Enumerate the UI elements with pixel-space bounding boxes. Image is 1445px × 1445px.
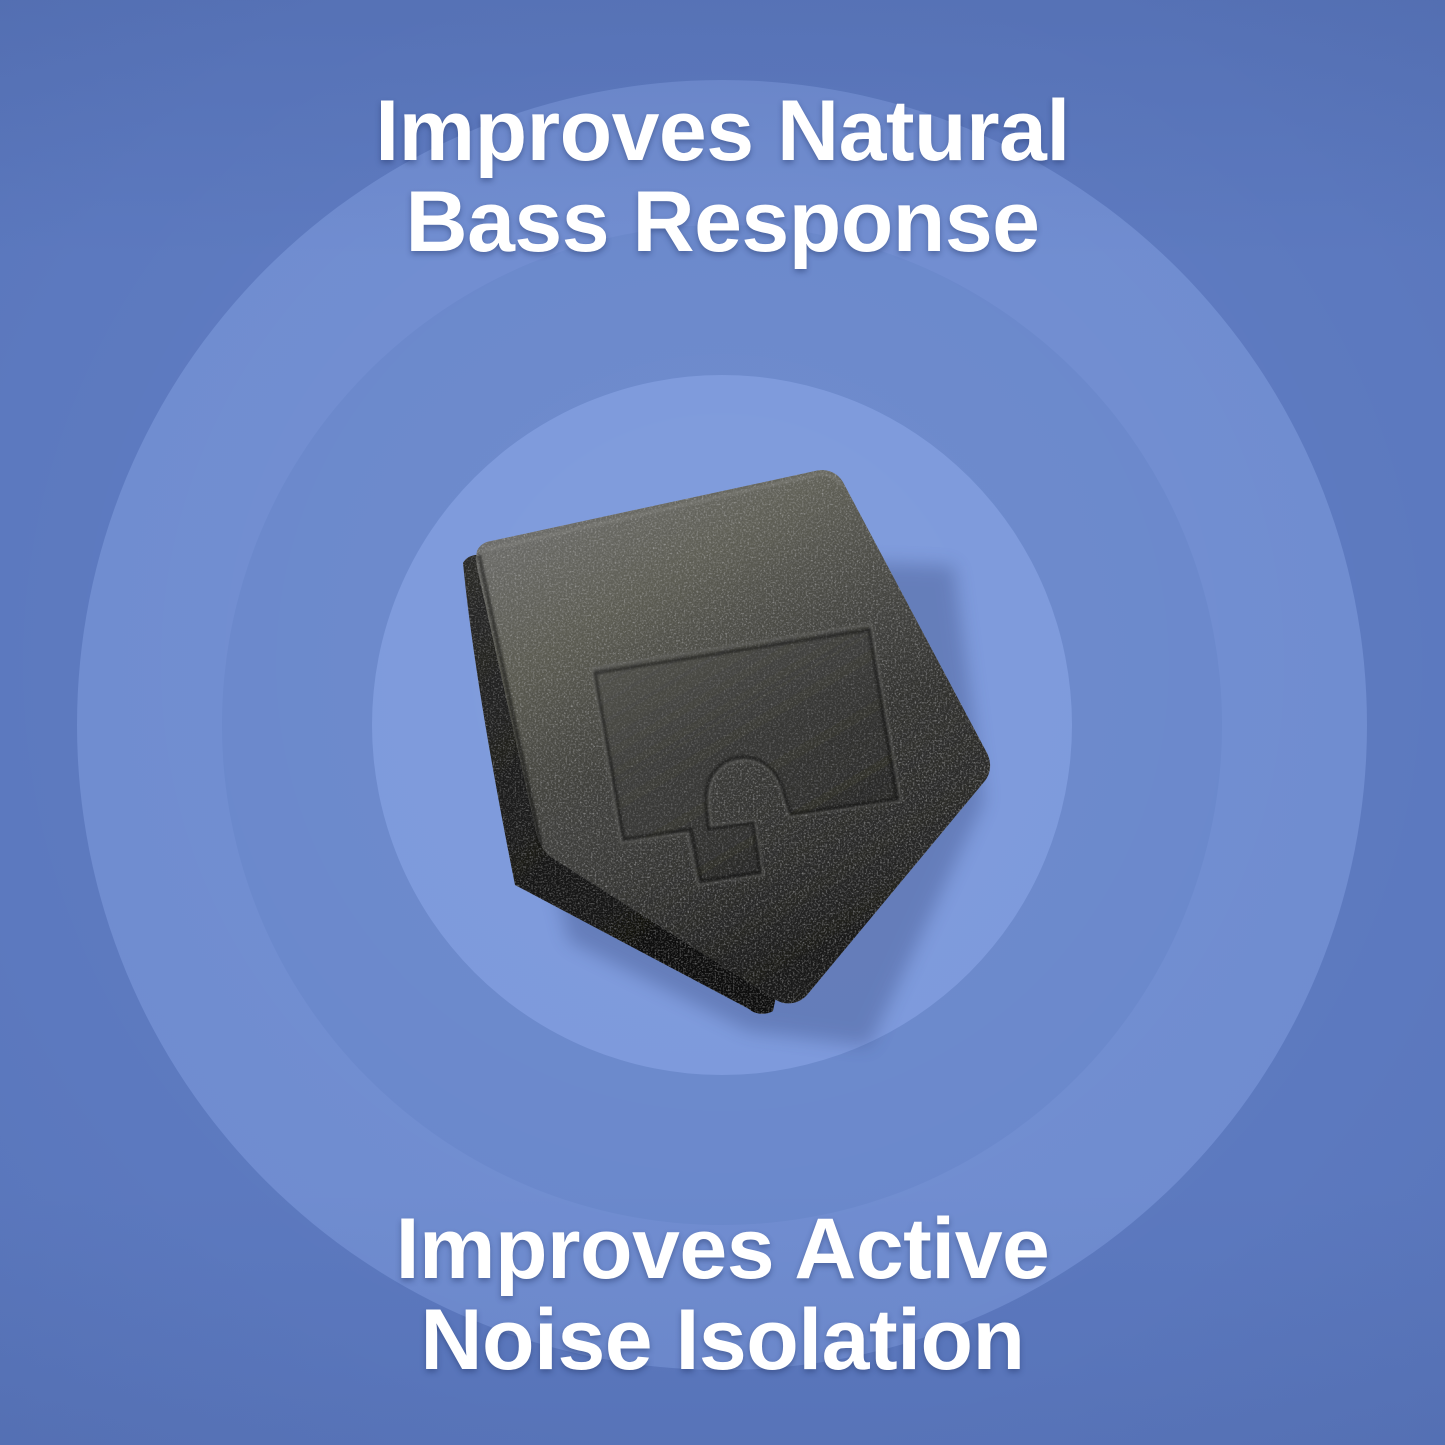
headline-top-line-1: Improves Natural: [0, 86, 1445, 177]
foam-ear-pad-insert-illustration: [455, 455, 1015, 1035]
headline-bottom: Improves Active Noise Isolation: [0, 1204, 1445, 1386]
headline-top-line-2: Bass Response: [0, 177, 1445, 268]
headline-bottom-line-1: Improves Active: [0, 1204, 1445, 1295]
product-image: [455, 455, 1015, 1035]
feature-graphic-canvas: Improves Natural Bass Response: [0, 0, 1445, 1445]
headline-bottom-line-2: Noise Isolation: [0, 1295, 1445, 1386]
headline-top: Improves Natural Bass Response: [0, 86, 1445, 268]
